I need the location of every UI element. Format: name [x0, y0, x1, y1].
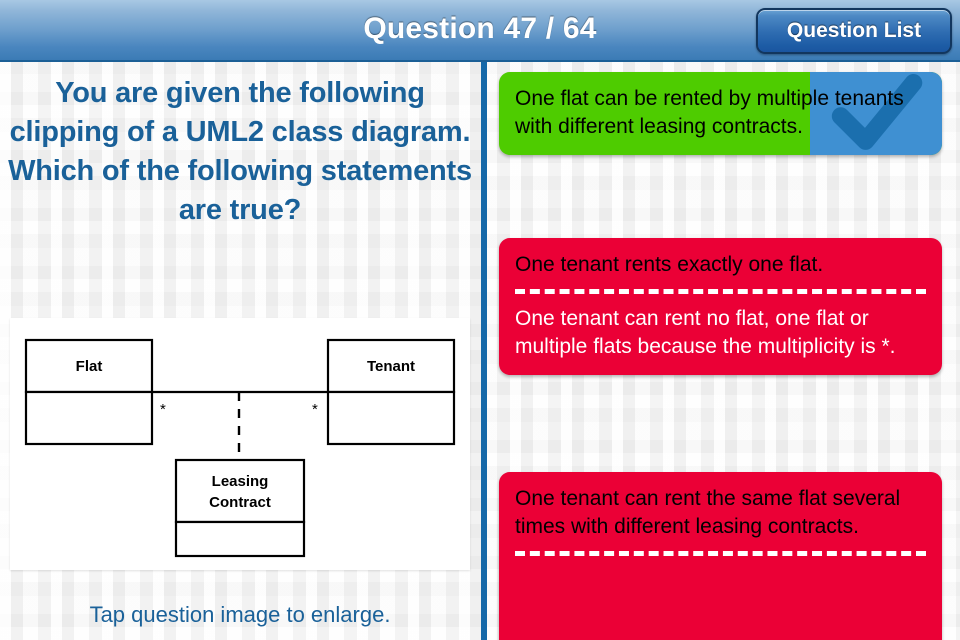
- answer-option-1-statement: One flat can be rented by multiple tenan…: [515, 85, 926, 141]
- panel-divider: [481, 62, 487, 640]
- answer-option-2-content: One tenant rents exactly one flat. One t…: [499, 238, 942, 375]
- answer-option-2-explanation: One tenant can rent no flat, one flat or…: [515, 305, 926, 361]
- question-list-button[interactable]: Question List: [756, 8, 952, 54]
- question-text: You are given the following clipping of …: [8, 74, 472, 230]
- answer-option-3[interactable]: One tenant can rent the same flat severa…: [499, 472, 942, 640]
- uml-class-tenant-label: Tenant: [367, 358, 415, 375]
- tap-to-enlarge-hint: Tap question image to enlarge.: [0, 602, 480, 628]
- answer-option-1[interactable]: One flat can be rented by multiple tenan…: [499, 72, 942, 155]
- multiplicity-tenant-side: *: [312, 401, 318, 418]
- answer-option-2[interactable]: One tenant rents exactly one flat. One t…: [499, 238, 942, 375]
- answer-option-2-statement: One tenant rents exactly one flat.: [515, 251, 926, 279]
- uml-class-diagram-svg: Flat Tenant Leasing Contract * *: [10, 318, 470, 570]
- quiz-screen: Question 47 / 64 Question List You are g…: [0, 0, 960, 640]
- uml-class-tenant: Tenant: [328, 340, 454, 444]
- uml-class-leasing-contract-label-line2: Contract: [209, 494, 271, 511]
- top-header-bar: Question 47 / 64 Question List: [0, 0, 960, 62]
- multiplicity-flat-side: *: [160, 401, 166, 418]
- question-panel: You are given the following clipping of …: [0, 62, 480, 640]
- uml-class-flat: Flat: [26, 340, 152, 444]
- answers-panel: One flat can be rented by multiple tenan…: [487, 62, 960, 640]
- question-image-uml-diagram[interactable]: Flat Tenant Leasing Contract * *: [10, 318, 470, 570]
- answer-option-2-separator: [515, 289, 926, 294]
- answer-option-3-statement: One tenant can rent the same flat severa…: [515, 485, 926, 541]
- uml-class-flat-label: Flat: [76, 358, 103, 375]
- answer-option-3-separator: [515, 551, 926, 556]
- uml-class-leasing-contract: Leasing Contract: [176, 460, 304, 556]
- uml-class-leasing-contract-label-line1: Leasing: [212, 473, 269, 490]
- question-list-button-label: Question List: [758, 10, 950, 52]
- answer-option-3-content: One tenant can rent the same flat severa…: [499, 472, 942, 581]
